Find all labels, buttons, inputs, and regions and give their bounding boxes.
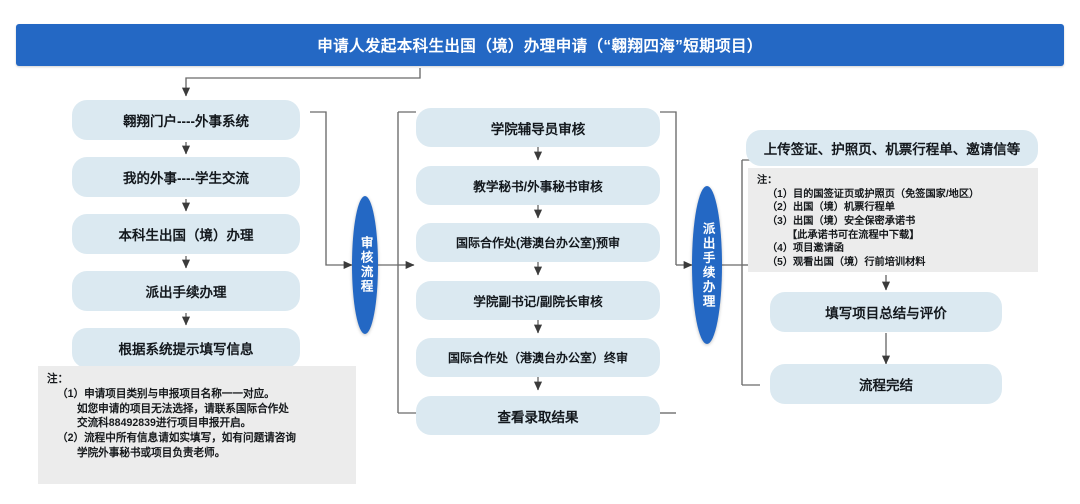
right-step-complete[interactable]: 流程完结: [770, 364, 1002, 404]
middle-step-1[interactable]: 学院辅导员审核: [416, 108, 660, 147]
middle-step-5[interactable]: 国际合作处（港澳台办公室）终审: [416, 338, 660, 377]
middle-step-3-label: 国际合作处(港澳台办公室)预审: [456, 234, 620, 251]
flowchart-canvas: 申请人发起本科生出国（境）办理申请（“翱翔四海”短期项目） 翱翔门户----外事…: [0, 0, 1080, 504]
middle-step-2-label: 教学秘书/外事秘书审核: [473, 176, 602, 195]
left-step-2-label: 我的外事----学生交流: [123, 167, 249, 187]
middle-step-4[interactable]: 学院副书记/副院长审核: [416, 281, 660, 320]
bottom-note-line-2: 如您申请的项目无法选择，请联系国际合作处: [47, 402, 348, 417]
upload-note-item-3: （3）出国（境）安全保密承诺书: [757, 215, 1030, 229]
connector-review-label: 审核流程: [358, 236, 371, 294]
bottom-note-line-5: 学院外事秘书或项目负责老师。: [47, 446, 348, 461]
upload-note-item-6: （5）观看出国（境）行前培训材料: [757, 256, 1030, 270]
middle-step-6[interactable]: 查看录取结果: [416, 396, 660, 435]
left-step-4-label: 派出手续办理: [146, 281, 227, 301]
middle-step-4-label: 学院副书记/副院长审核: [473, 291, 602, 310]
right-step-summary-label: 填写项目总结与评价: [825, 302, 947, 322]
bottom-note-panel: 注： （1）申请项目类别与申报项目名称一一对应。 如您申请的项目无法选择，请联系…: [38, 366, 356, 484]
left-step-4[interactable]: 派出手续办理: [72, 271, 300, 311]
left-step-3[interactable]: 本科生出国（境）办理: [72, 214, 300, 254]
middle-step-3[interactable]: 国际合作处(港澳台办公室)预审: [416, 223, 660, 262]
upload-note-item-2: （2）出国（境）机票行程单: [757, 201, 1030, 215]
middle-step-5-label: 国际合作处（港澳台办公室）终审: [448, 349, 628, 366]
right-step-complete-label: 流程完结: [859, 374, 913, 394]
left-step-1[interactable]: 翱翔门户----外事系统: [72, 100, 300, 140]
connector-review-ellipse[interactable]: 审核流程: [352, 196, 378, 334]
bottom-note-line-4: （2）流程中所有信息请如实填写，如有问题请咨询: [47, 431, 348, 446]
left-step-2[interactable]: 我的外事----学生交流: [72, 157, 300, 197]
bottom-note-line-1: （1）申请项目类别与申报项目名称一一对应。: [47, 387, 348, 402]
right-step-summary[interactable]: 填写项目总结与评价: [770, 292, 1002, 332]
connector-dispatch-ellipse[interactable]: 派出手续办理: [692, 186, 722, 344]
middle-step-1-label: 学院辅导员审核: [491, 118, 586, 138]
upload-note-title: 注：: [757, 174, 1030, 188]
left-step-5[interactable]: 根据系统提示填写信息: [72, 328, 300, 368]
bottom-note-title: 注：: [47, 372, 348, 387]
connector-dispatch-label: 派出手续办理: [700, 222, 713, 309]
upload-note-item-4: 【此承诺书可在流程中下载】: [757, 229, 1030, 243]
upload-note-panel: 注： （1）目的国签证页或护照页（免签国家/地区） （2）出国（境）机票行程单 …: [748, 168, 1038, 272]
upload-documents-label: 上传签证、护照页、机票行程单、邀请信等: [764, 138, 1021, 158]
left-step-1-label: 翱翔门户----外事系统: [123, 110, 249, 130]
upload-documents-box[interactable]: 上传签证、护照页、机票行程单、邀请信等: [746, 130, 1038, 166]
left-step-3-label: 本科生出国（境）办理: [119, 224, 254, 244]
bottom-note-line-3: 交流科88492839进行项目申报开启。: [47, 416, 348, 431]
middle-step-2[interactable]: 教学秘书/外事秘书审核: [416, 166, 660, 205]
banner-title: 申请人发起本科生出国（境）办理申请（“翱翔四海”短期项目）: [317, 34, 763, 56]
upload-note-item-5: （4）项目邀请函: [757, 242, 1030, 256]
upload-note-item-1: （1）目的国签证页或护照页（免签国家/地区）: [757, 188, 1030, 202]
middle-step-6-label: 查看录取结果: [498, 406, 579, 426]
left-step-5-label: 根据系统提示填写信息: [119, 338, 254, 358]
page-title-banner: 申请人发起本科生出国（境）办理申请（“翱翔四海”短期项目）: [16, 24, 1064, 66]
